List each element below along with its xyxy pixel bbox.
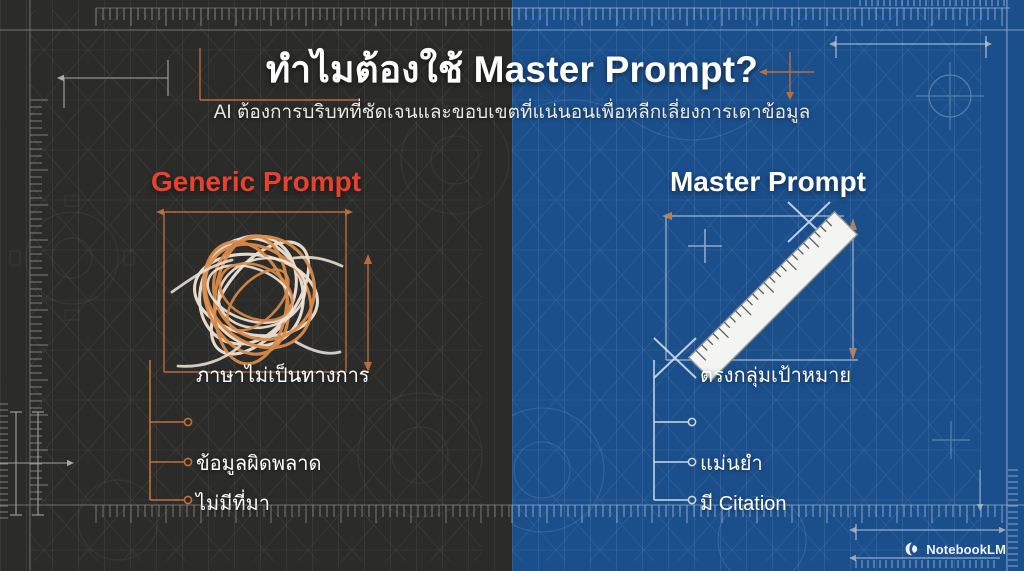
- title-block: ทำไมต้องใช้ Master Prompt? AI ต้องการบริ…: [0, 48, 1024, 124]
- bullet-label: ภาษาไม่เป็นทางการ: [196, 359, 370, 391]
- watermark-label: NotebookLM: [926, 542, 1006, 557]
- bullet-label: ข้อมูลผิดพลาด: [196, 447, 322, 479]
- watermark: NotebookLM: [904, 541, 1006, 557]
- bullet-label: มี Citation: [700, 487, 787, 519]
- bullet-label: ไม่มีที่มา: [196, 487, 270, 519]
- bullet-label: ตรงกลุ่มเป้าหมาย: [700, 359, 851, 391]
- master-prompt-bullet-list: แม่นยำ มี Citation ตรงกลุ่มเป้าหมาย: [648, 360, 978, 520]
- list-item: มี Citation: [700, 488, 787, 518]
- page-title: ทำไมต้องใช้ Master Prompt?: [0, 48, 1024, 92]
- list-item: ตรงกลุ่มเป้าหมาย: [700, 360, 851, 390]
- generic-prompt-bullet-list: ข้อมูลผิดพลาด ไม่มีที่มา ภาษาไม่เป็นทางก…: [144, 360, 474, 520]
- list-item: ไม่มีที่มา: [196, 488, 270, 518]
- list-item: ภาษาไม่เป็นทางการ: [196, 360, 370, 390]
- master-prompt-heading: Master Prompt: [512, 166, 1024, 198]
- generic-prompt-heading: Generic Prompt: [0, 166, 512, 198]
- bullet-label: แม่นยำ: [700, 447, 763, 479]
- list-item: ข้อมูลผิดพลาด: [196, 448, 322, 478]
- infographic-slide: ทำไมต้องใช้ Master Prompt? AI ต้องการบริ…: [0, 0, 1024, 571]
- list-item: แม่นยำ: [700, 448, 763, 478]
- notebooklm-icon: [904, 541, 920, 557]
- page-subtitle: AI ต้องการบริบทที่ชัดเจนและขอบเขตที่แน่น…: [0, 101, 1024, 125]
